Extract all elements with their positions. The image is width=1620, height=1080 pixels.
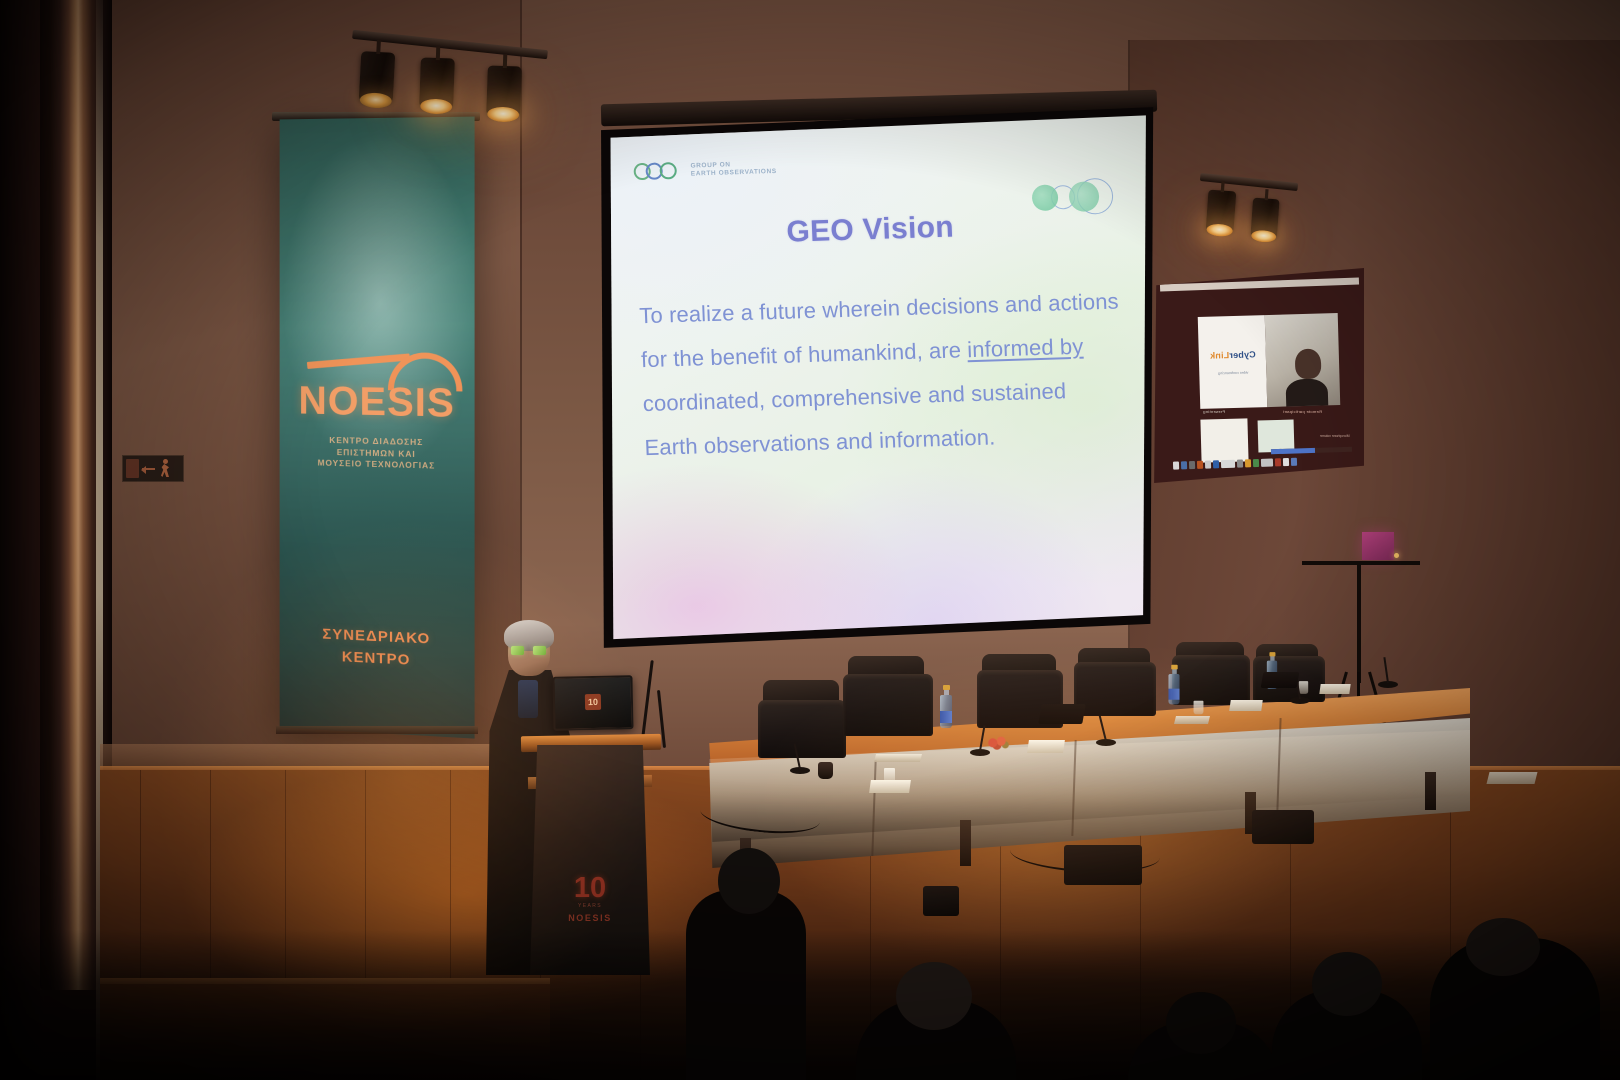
audience-member-head bbox=[896, 962, 972, 1030]
track-spotlight bbox=[1250, 198, 1279, 239]
vc-slider-label: Microphone volume bbox=[1320, 434, 1350, 438]
track-spotlight bbox=[486, 65, 522, 116]
banner-footer-line: ΣΥΝΕΔΡΙΑΚΟ bbox=[280, 622, 475, 653]
papers-stack bbox=[1487, 772, 1538, 784]
slide-body: To realize a future wherein decisions an… bbox=[639, 279, 1138, 470]
projection-screen: GROUP ON EARTH OBSERVATIONS GEO Vision T… bbox=[596, 105, 1156, 650]
panel-laptop[interactable] bbox=[1038, 704, 1086, 724]
exit-arrow-icon bbox=[142, 468, 155, 470]
stage-light-panel bbox=[1362, 532, 1394, 560]
panel-laptop[interactable] bbox=[1261, 672, 1300, 688]
vc-caption-right: Remote participant bbox=[1283, 409, 1322, 414]
track-spotlight bbox=[1206, 190, 1237, 233]
noesis-logo-mark bbox=[303, 345, 452, 393]
name-card bbox=[1027, 740, 1065, 753]
bottle-label bbox=[940, 711, 952, 723]
screen-surface: GROUP ON EARTH OBSERVATIONS GEO Vision T… bbox=[596, 105, 1156, 650]
taskbar-icon[interactable] bbox=[1181, 461, 1187, 469]
water-bottle[interactable] bbox=[940, 686, 952, 728]
podium-brand: NOESIS bbox=[530, 913, 650, 923]
gooseneck-microphone bbox=[790, 740, 810, 774]
podium-anniversary-number: 10 bbox=[530, 875, 650, 901]
track-spotlight bbox=[419, 57, 455, 108]
banner-footer-line: ΚΕΝΤΡΟ bbox=[280, 643, 475, 674]
slide-underlined-phrase: informed by bbox=[967, 334, 1084, 363]
papers-stack bbox=[1174, 716, 1210, 724]
taskbar-icon[interactable] bbox=[1213, 460, 1219, 468]
taskbar-icon[interactable] bbox=[1291, 457, 1297, 465]
stage-light-led bbox=[1394, 553, 1399, 558]
geo-logo: GROUP ON EARTH OBSERVATIONS bbox=[633, 158, 777, 181]
noesis-subtitle-line: ΕΠΙΣΤΗΜΩΝ ΚΑΙ bbox=[280, 445, 475, 461]
audience-member-head bbox=[718, 848, 780, 914]
exit-door-icon bbox=[126, 459, 139, 478]
vc-thumbnail[interactable] bbox=[1200, 418, 1248, 462]
table-leg bbox=[960, 820, 971, 866]
noesis-subtitle-line: ΜΟΥΣΕΙΟ ΤΕΧΝΟΛΟΓΙΑΣ bbox=[280, 457, 475, 474]
slide-body-line-prefix: for the benefit of humankind, are bbox=[641, 337, 968, 372]
taskbar-icon[interactable] bbox=[1189, 460, 1195, 468]
banner-footer: ΣΥΝΕΔΡΙΑΚΟ ΚΕΝΤΡΟ bbox=[280, 622, 475, 675]
taskbar-icon[interactable] bbox=[1221, 459, 1235, 467]
name-card bbox=[1229, 700, 1263, 711]
vc-app-name: CyberLink bbox=[1209, 349, 1255, 360]
banner-bottom-rail bbox=[276, 726, 478, 734]
vc-taskbar[interactable] bbox=[1173, 454, 1343, 470]
vc-remote-participant-body bbox=[1285, 378, 1328, 407]
taskbar-icon[interactable] bbox=[1275, 458, 1281, 466]
auditorium-scene: NOESIS ΚΕΝΤΡΟ ΔΙΑΔΟΣΗΣ ΕΠΙΣΤΗΜΩΝ ΚΑΙ ΜΟΥ… bbox=[0, 0, 1620, 1080]
noesis-bar-icon bbox=[307, 353, 410, 369]
taskbar-icon[interactable] bbox=[1197, 460, 1203, 468]
vc-camera-pane bbox=[1264, 313, 1339, 407]
bottle-label bbox=[1168, 689, 1179, 700]
podium-anniversary-years: YEARS bbox=[530, 903, 650, 909]
coffee-cup[interactable] bbox=[818, 762, 833, 779]
taskbar-icon[interactable] bbox=[1245, 459, 1251, 467]
taskbar-icon[interactable] bbox=[1205, 460, 1211, 468]
table-leg bbox=[1425, 772, 1436, 810]
taskbar-icon[interactable] bbox=[1253, 458, 1259, 466]
noesis-subtitle: ΚΕΝΤΡΟ ΔΙΑΔΟΣΗΣ ΕΠΙΣΤΗΜΩΝ ΚΑΙ ΜΟΥΣΕΙΟ ΤΕ… bbox=[280, 434, 475, 473]
noesis-dome-icon bbox=[388, 352, 462, 391]
running-man-icon bbox=[158, 459, 173, 478]
panel-chair bbox=[1074, 662, 1156, 716]
microphone-stem bbox=[794, 743, 801, 769]
floor-monitor-speaker bbox=[1064, 845, 1142, 885]
papers-stack bbox=[874, 754, 922, 762]
column-shadow bbox=[0, 0, 44, 1080]
bottle-cap bbox=[1171, 665, 1177, 670]
vc-caption-left: Presenting bbox=[1203, 409, 1225, 414]
presentation-slide: GROUP ON EARTH OBSERVATIONS GEO Vision T… bbox=[585, 97, 1166, 659]
noesis-banner: NOESIS ΚΕΝΤΡΟ ΔΙΑΔΟΣΗΣ ΕΠΙΣΤΗΜΩΝ ΚΑΙ ΜΟΥ… bbox=[280, 117, 475, 739]
presenter-scarf bbox=[518, 680, 538, 718]
slide-title-text: GEO Vision bbox=[786, 211, 955, 249]
podium-laptop-logo: 10 bbox=[585, 694, 601, 710]
spotlight-arm bbox=[436, 46, 440, 60]
slide-title: GEO Vision bbox=[590, 205, 1151, 256]
taskbar-icon[interactable] bbox=[1173, 461, 1179, 469]
vc-remote-participant-head bbox=[1295, 349, 1322, 380]
audience-member-head bbox=[1466, 918, 1540, 976]
tripod-pole bbox=[1357, 561, 1361, 683]
vc-thumbnail[interactable] bbox=[1258, 419, 1295, 452]
drinking-glass[interactable] bbox=[1194, 701, 1204, 715]
vc-main-panes: CyberLink video conferencing bbox=[1197, 313, 1339, 409]
noesis-wordmark: NOESIS bbox=[280, 378, 475, 427]
noesis-subtitle-line: ΚΕΝΤΡΟ ΔΙΑΔΟΣΗΣ bbox=[280, 434, 475, 450]
bottle-cap bbox=[943, 685, 950, 690]
audience-member bbox=[686, 890, 806, 1080]
floor-monitor-speaker bbox=[923, 886, 959, 916]
name-card bbox=[869, 780, 911, 793]
podium-logo: 10 YEARS NOESIS bbox=[530, 875, 650, 923]
water-bottle[interactable] bbox=[1168, 666, 1179, 705]
video-conference-screen: CyberLink video conferencing Presenting … bbox=[1152, 268, 1364, 483]
geo-rings-icon bbox=[633, 161, 686, 182]
bottle-cap bbox=[1269, 652, 1275, 656]
vc-logo-pane: CyberLink video conferencing bbox=[1197, 315, 1267, 409]
geo-logo-text: GROUP ON EARTH OBSERVATIONS bbox=[690, 160, 776, 178]
flower-arrangement bbox=[985, 734, 1011, 750]
taskbar-icon[interactable] bbox=[1261, 458, 1273, 466]
microphone-stem bbox=[1099, 716, 1107, 742]
emergency-exit-sign bbox=[122, 455, 184, 482]
vc-app-tagline: video conferencing bbox=[1217, 371, 1247, 376]
taskbar-icon[interactable] bbox=[1283, 457, 1289, 465]
audience-member-head bbox=[1166, 992, 1236, 1054]
podium-laptop[interactable]: 10 bbox=[552, 675, 633, 731]
panel-chair bbox=[1172, 655, 1250, 705]
spotlight-arm bbox=[503, 54, 507, 68]
floor-monitor-speaker bbox=[1252, 810, 1314, 844]
presenter-glasses bbox=[511, 646, 547, 655]
taskbar-icon[interactable] bbox=[1237, 459, 1243, 467]
audience-member-head bbox=[1312, 952, 1382, 1016]
panel-chair bbox=[843, 674, 933, 736]
spotlight-arm bbox=[376, 40, 381, 54]
name-card bbox=[1319, 684, 1350, 694]
tripod-crossbar bbox=[1302, 561, 1420, 565]
gooseneck-microphone bbox=[1378, 666, 1394, 688]
gooseneck-microphone bbox=[1096, 714, 1116, 746]
track-spotlight bbox=[359, 51, 396, 103]
